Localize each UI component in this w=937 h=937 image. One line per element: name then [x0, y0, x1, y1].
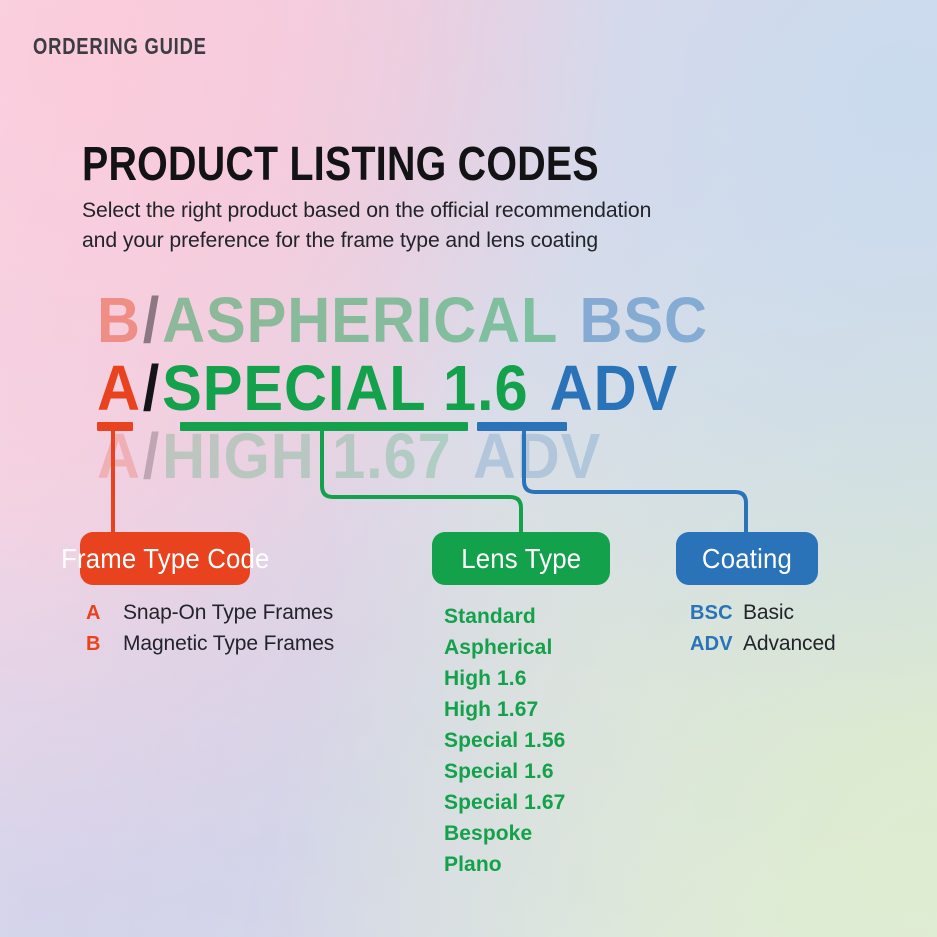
- legend-code: ADV: [690, 633, 743, 656]
- legend-text: Magnetic Type Frames: [123, 632, 334, 656]
- legend-text: Advanced: [743, 632, 836, 656]
- list-item: B Magnetic Type Frames: [86, 632, 334, 663]
- underline-coating: [477, 422, 567, 431]
- code-lens-segment: ASPHERICAL: [162, 284, 558, 356]
- callout-label: Lens Type: [461, 543, 581, 575]
- callout-lens-type[interactable]: Lens Type: [432, 532, 610, 585]
- list-item: High 1.6: [444, 663, 565, 694]
- list-item: Special 1.6: [444, 756, 565, 787]
- code-gap: [560, 284, 577, 356]
- code-coating-segment: ADV: [550, 352, 678, 424]
- callout-frame-type-code[interactable]: Frame Type Code: [80, 532, 250, 585]
- legend-code: A: [86, 602, 123, 625]
- code-stack: B/ASPHERICAL BSC A/SPECIAL 1.6 ADV A/HIG…: [0, 0, 937, 500]
- list-item: Special 1.67: [444, 787, 565, 818]
- legend-code: BSC: [690, 602, 743, 625]
- callout-coating[interactable]: Coating: [676, 532, 818, 585]
- code-separator: /: [143, 352, 160, 424]
- list-item: Bespoke: [444, 818, 565, 849]
- list-item: Standard: [444, 601, 565, 632]
- list-item: High 1.67: [444, 694, 565, 725]
- legend-text: Snap-On Type Frames: [123, 601, 333, 625]
- list-item: Plano: [444, 849, 565, 880]
- legend-text: Basic: [743, 601, 794, 625]
- list-item: ADV Advanced: [690, 632, 836, 663]
- list-item: Special 1.56: [444, 725, 565, 756]
- legend-code: B: [86, 633, 123, 656]
- list-item: Aspherical: [444, 632, 565, 663]
- callout-label: Frame Type Code: [61, 543, 269, 575]
- code-gap: [530, 352, 547, 424]
- list-item: BSC Basic: [690, 601, 836, 632]
- code-separator: /: [143, 420, 160, 492]
- callout-label: Coating: [702, 543, 792, 575]
- code-row-previous: B/ASPHERICAL BSC: [97, 283, 708, 357]
- legend-lens-types: Standard Aspherical High 1.6 High 1.67 S…: [444, 601, 565, 880]
- code-separator: /: [143, 284, 160, 356]
- legend-coatings: BSC Basic ADV Advanced: [690, 601, 836, 663]
- code-row-active: A/SPECIAL 1.6 ADV: [97, 351, 678, 425]
- legend-frame-types: A Snap-On Type Frames B Magnetic Type Fr…: [86, 601, 334, 663]
- code-lens-segment: SPECIAL 1.6: [162, 352, 528, 424]
- code-frame-segment: B: [97, 284, 141, 356]
- code-coating-segment: BSC: [579, 284, 707, 356]
- list-item: A Snap-On Type Frames: [86, 601, 334, 632]
- underline-frame: [97, 422, 133, 431]
- code-frame-segment: A: [97, 352, 141, 424]
- underline-lens: [180, 422, 468, 431]
